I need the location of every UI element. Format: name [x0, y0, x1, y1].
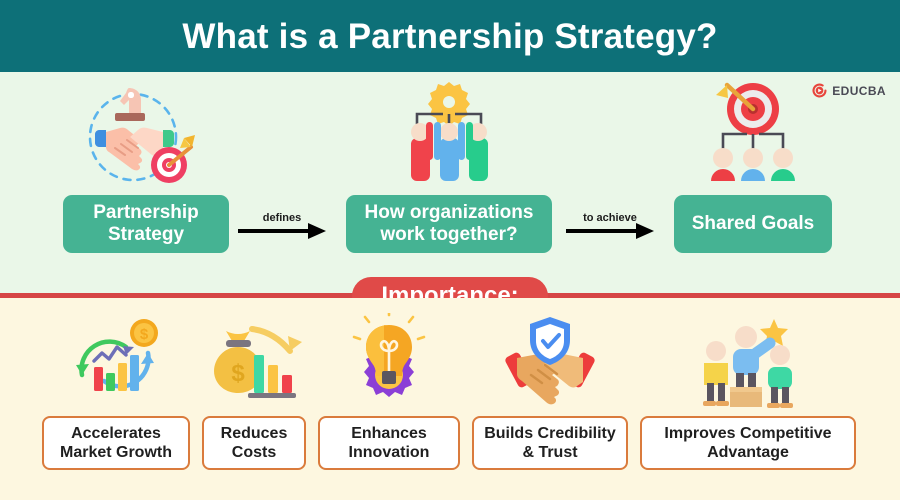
flow-section: EDUCBA: [0, 72, 900, 297]
benefit-item-5-label: Improves Competitive Advantage: [640, 416, 856, 470]
flow-step-1: Partnership Strategy: [62, 82, 230, 253]
arrow-right-icon: [566, 226, 654, 236]
handshake-shield-check-icon: [495, 312, 605, 410]
flow-connector-2-label: to achieve: [583, 212, 637, 224]
benefits-section: $ Accelerates Market Growth $: [0, 298, 900, 500]
infographic-page: What is a Partnership Strategy? EDUCBA: [0, 0, 900, 500]
handshake-strategy-target-icon: [71, 82, 221, 187]
page-title: What is a Partnership Strategy?: [182, 19, 717, 54]
benefit-item-2-label: Reduces Costs: [202, 416, 306, 470]
target-arrow-team-icon: [688, 82, 818, 187]
benefit-item-1: $ Accelerates Market Growth: [42, 312, 190, 470]
brand-name: EDUCBA: [832, 84, 886, 98]
benefit-item-2: $ Reduces Costs: [202, 312, 306, 470]
team-gear-collaboration-icon: [384, 82, 514, 187]
flow-connector-2: to achieve: [566, 212, 654, 236]
money-bag-declining-bars-icon: $: [206, 312, 302, 410]
flow-step-2-label: How organizations work together?: [346, 195, 552, 253]
benefit-item-4-label: Builds Credibility & Trust: [472, 416, 628, 470]
benefit-item-3: Enhances Innovation: [318, 312, 460, 470]
growth-chart-coin-icon: $: [66, 312, 166, 410]
benefit-item-1-label: Accelerates Market Growth: [42, 416, 190, 470]
flow-connector-1-label: defines: [263, 212, 302, 224]
lightbulb-gear-icon: [343, 312, 435, 410]
svg-text:$: $: [140, 326, 149, 343]
flow-step-2: How organizations work together?: [346, 82, 552, 253]
header-banner: What is a Partnership Strategy?: [0, 0, 900, 72]
flow-connector-1: defines: [238, 212, 326, 236]
svg-text:$: $: [231, 360, 245, 387]
benefit-item-3-label: Enhances Innovation: [318, 416, 460, 470]
arrow-right-icon: [238, 226, 326, 236]
benefit-item-5: Improves Competitive Advantage: [640, 312, 856, 470]
flow-step-3: Shared Goals: [674, 82, 832, 253]
flow-step-3-label: Shared Goals: [674, 195, 832, 253]
podium-star-winner-icon: [690, 312, 806, 410]
benefit-item-4: Builds Credibility & Trust: [472, 312, 628, 470]
flow-step-1-label: Partnership Strategy: [63, 195, 229, 253]
